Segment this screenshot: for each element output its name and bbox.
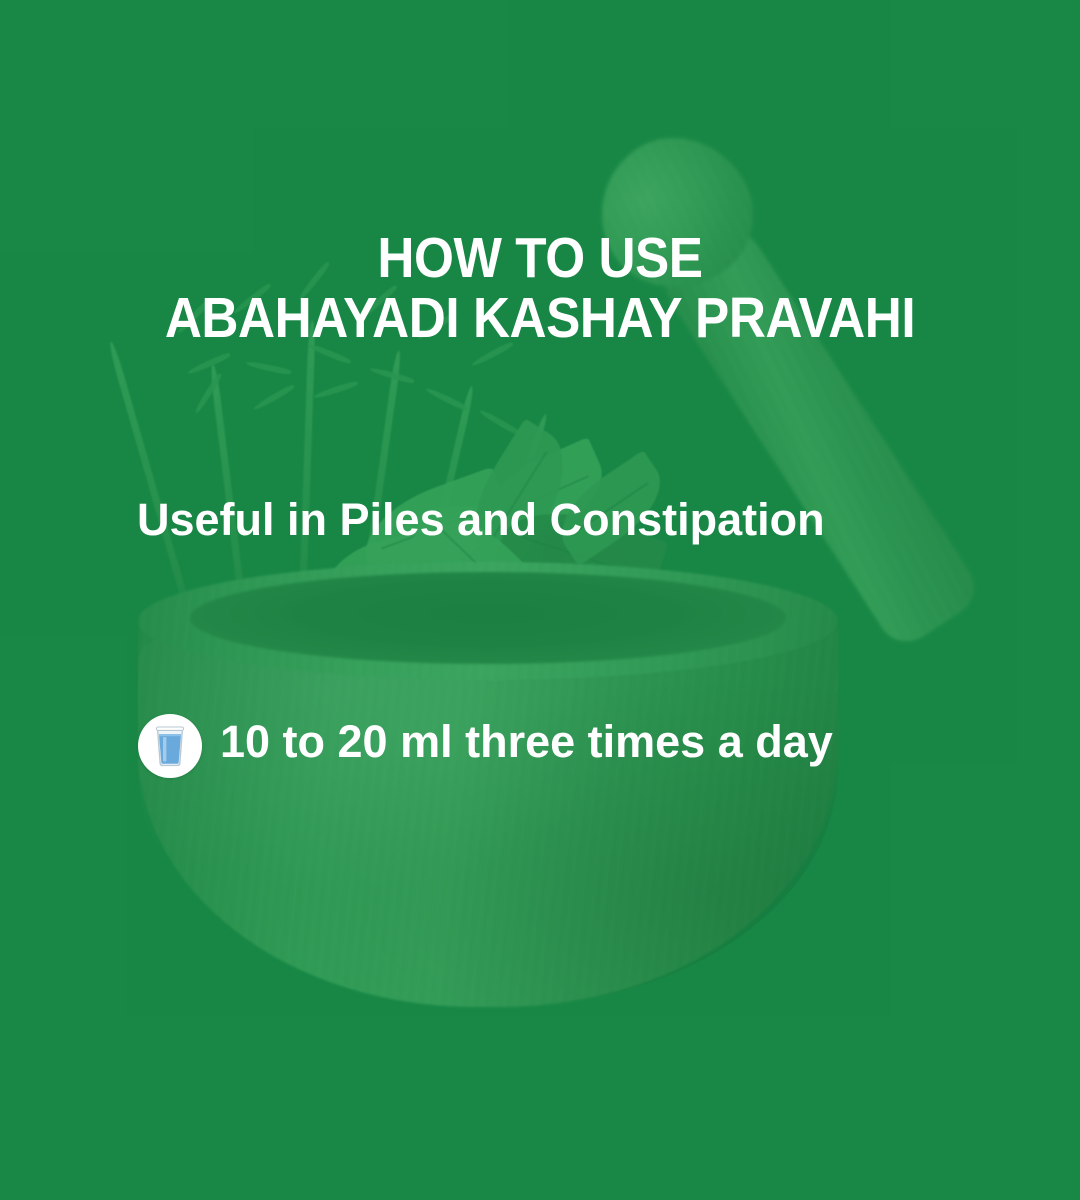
title-line-1: HOW TO USE	[54, 228, 1026, 288]
dosage-text: 10 to 20 ml three times a day	[220, 714, 833, 769]
page-title: HOW TO USE ABAHAYADI KASHAY PRAVAHI	[0, 228, 1080, 348]
dosage-row: 10 to 20 ml three times a day	[138, 714, 833, 778]
poster-content: HOW TO USE ABAHAYADI KASHAY PRAVAHI Usef…	[0, 0, 1080, 1200]
poster-canvas: HOW TO USE ABAHAYADI KASHAY PRAVAHI Usef…	[0, 0, 1080, 1200]
drinking-glass-icon	[138, 714, 202, 778]
subtitle-text: Useful in Piles and Constipation	[137, 493, 825, 547]
title-line-2: ABAHAYADI KASHAY PRAVAHI	[54, 288, 1026, 348]
